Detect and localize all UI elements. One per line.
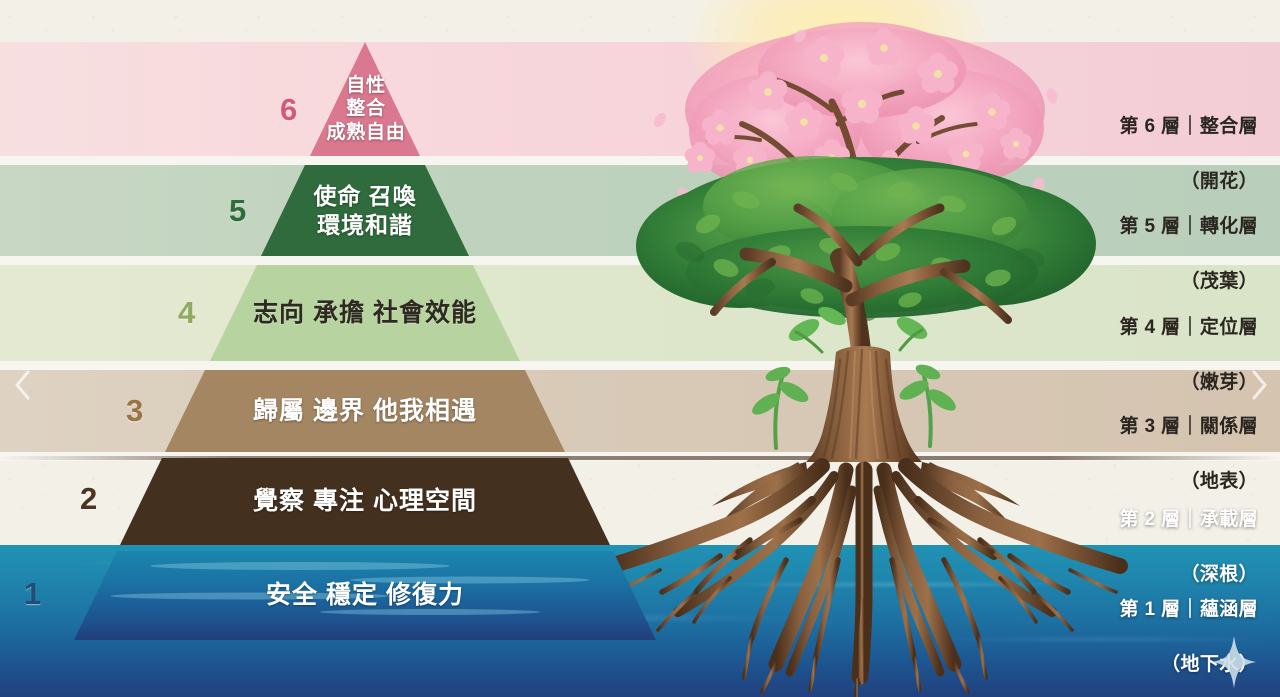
layer-2-title: 第 2 層｜承載層 [1119,506,1258,534]
pyramid-tier-2-number: 2 [80,483,97,514]
sparkle-icon [1212,636,1256,688]
pyramid-tier-5-label: 使命 召喚 環境和諧 [314,182,417,239]
pyramid-tier-1-label: 安全 穩定 修復力 [266,580,464,611]
layer-6-title: 第 6 層｜整合層 [1119,113,1258,141]
chevron-right-icon [1246,368,1272,402]
pyramid-tier-3-number: 3 [126,395,143,426]
pyramid-tier-1[interactable]: 安全 穩定 修復力 [74,551,656,640]
pyramid-tier-5[interactable]: 使命 召喚 環境和諧 [261,165,469,256]
layer-5-title: 第 5 層｜轉化層 [1119,213,1258,241]
pyramid-tier-6[interactable]: 自性 整合 成熟自由 [300,62,432,156]
next-slide-button[interactable] [1246,368,1272,402]
pyramid-tier-3[interactable]: 歸屬 邊界 他我相遇 [165,370,565,452]
pyramid-tier-6-number: 6 [280,94,297,125]
pyramid-tier-4-number: 4 [178,297,195,328]
chevron-left-icon [10,368,36,402]
pyramid-tier-3-label: 歸屬 邊界 他我相遇 [253,396,477,427]
trunk [806,346,922,462]
infographic-canvas: 自性 整合 成熟自由 使命 召喚 環境和諧 志向 承擔 社會效能 歸屬 邊界 他… [0,0,1280,697]
layer-3-title: 第 3 層｜關係層 [1119,413,1258,441]
pyramid-tier-6-label: 自性 整合 成熟自由 [326,74,405,145]
prev-slide-button[interactable] [10,368,36,402]
pyramid-tier-1-number: 1 [24,578,41,609]
pyramid-tier-4-label: 志向 承擔 社會效能 [253,298,477,329]
pyramid-tier-2-label: 覺察 專注 心理空間 [253,486,477,517]
growth-pyramid: 自性 整合 成熟自由 使命 召喚 環境和諧 志向 承擔 社會效能 歸屬 邊界 他… [0,0,700,697]
pyramid-tier-2[interactable]: 覺察 專注 心理空間 [120,458,610,545]
sparkle-decoration [1212,636,1256,688]
pyramid-tier-4[interactable]: 志向 承擔 社會效能 [210,265,520,361]
layer-4-title: 第 4 層｜定位層 [1119,314,1258,342]
pyramid-tier-5-number: 5 [229,195,246,226]
layer-1-title: 第 1 層｜蘊涵層 [1119,596,1258,624]
